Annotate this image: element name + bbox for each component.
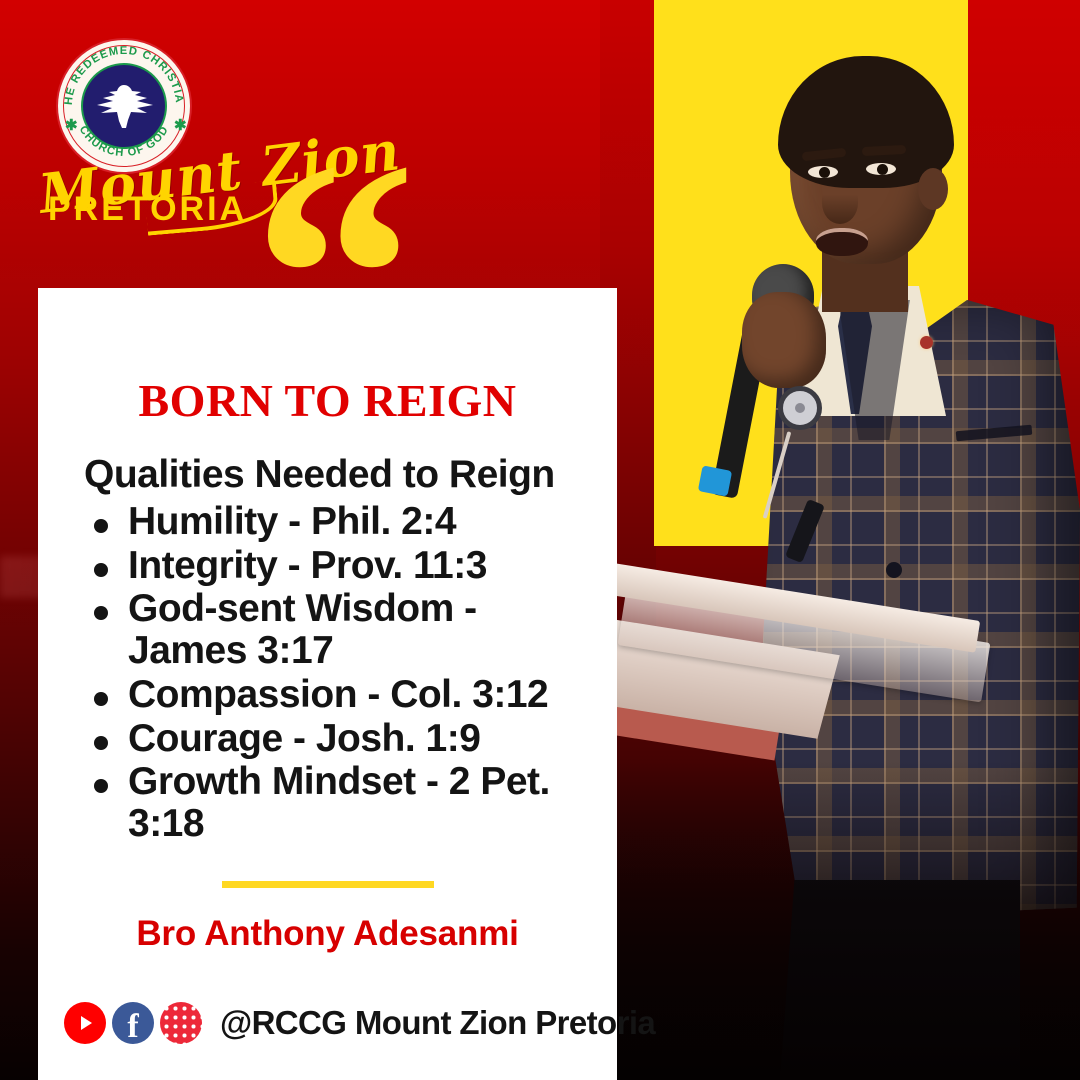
qualities-list: Humility - Phil. 2:4 Integrity - Prov. 1… (38, 501, 617, 847)
wristwatch-icon (778, 386, 822, 430)
logo-navy-disc (83, 65, 165, 147)
social-handle-row: f @RCCG Mount Zion Pretoria (64, 1002, 655, 1044)
list-item: Courage - Josh. 1:9 (86, 718, 599, 760)
eye-left (808, 166, 838, 178)
mouth (816, 228, 868, 256)
youtube-play-glyph (81, 1016, 92, 1030)
sermon-title: BORN TO REIGN (138, 374, 516, 427)
facebook-icon[interactable]: f (112, 1002, 154, 1044)
facebook-f-glyph: f (127, 1010, 138, 1044)
ear (918, 168, 948, 210)
speaker-name: Bro Anthony Adesanmi (136, 914, 518, 954)
social-handle-text: @RCCG Mount Zion Pretoria (220, 1004, 655, 1042)
dotted-circle-icon[interactable] (160, 1002, 202, 1044)
nose (822, 182, 858, 224)
list-item: Integrity - Prov. 11:3 (86, 545, 599, 587)
yellow-divider (222, 881, 434, 888)
hand (742, 292, 826, 388)
list-item: Compassion - Col. 3:12 (86, 674, 599, 716)
eye-right (866, 163, 896, 175)
content-card: BORN TO REIGN Qualities Needed to Reign … (38, 288, 617, 1080)
logo-star-right-icon: ✱ (174, 116, 187, 134)
youtube-icon[interactable] (64, 1002, 106, 1044)
speaker-photo (600, 0, 1080, 1080)
parish-city-label: PRETORIA (48, 190, 247, 229)
list-item: God-sent Wisdom - James 3:17 (86, 588, 599, 671)
sermon-subtitle: Qualities Needed to Reign (38, 453, 555, 497)
church-logo: THE REDEEMED CHRISTIAN CHURCH OF GOD ✱ ✱… (36, 28, 276, 228)
trousers (780, 880, 1020, 1080)
lapel-pin-icon (920, 336, 933, 349)
list-item: Humility - Phil. 2:4 (86, 501, 599, 543)
microphone-blue-band (698, 465, 732, 496)
dove-icon (91, 81, 157, 131)
jacket-button (886, 562, 902, 578)
logo-star-left-icon: ✱ (65, 116, 78, 134)
poster-canvas: THE REDEEMED CHRISTIAN CHURCH OF GOD ✱ ✱… (0, 0, 1080, 1080)
list-item: Growth Mindset - 2 Pet. 3:18 (86, 761, 599, 844)
